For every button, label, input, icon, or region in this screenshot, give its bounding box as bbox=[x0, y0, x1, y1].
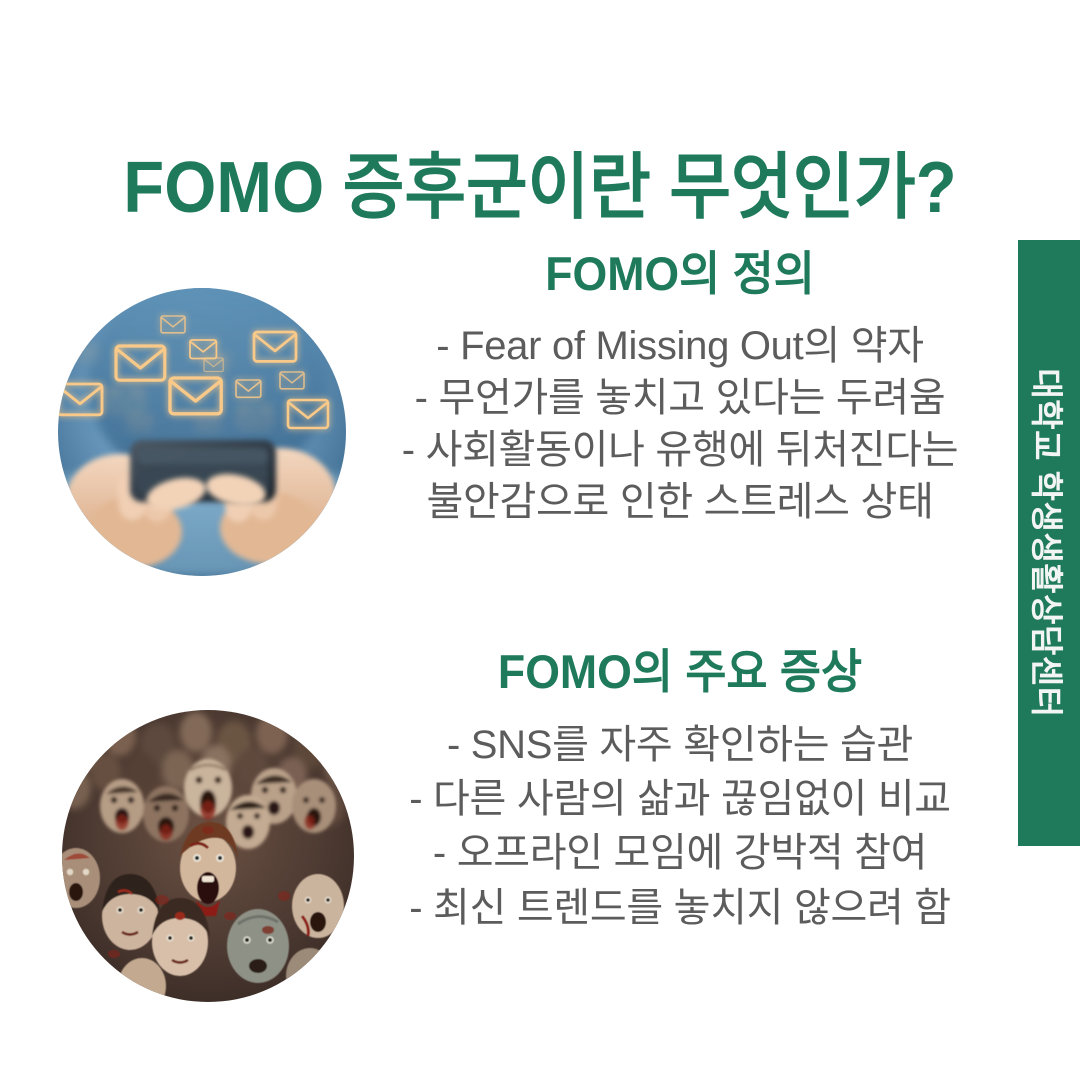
list-item: - 오프라인 모임에 강박적 참여 bbox=[370, 826, 990, 880]
section-definition: FOMO의 정의 - Fear of Missing Out의 약자 - 무언가… bbox=[0, 240, 1010, 600]
list-item: - 다른 사람의 삶과 끊임없이 비교 bbox=[370, 772, 990, 826]
list-item: - 사회활동이나 유행에 뒤처진다는 bbox=[370, 424, 990, 476]
symptom-list: - SNS를 자주 확인하는 습관 - 다른 사람의 삶과 끊임없이 비교 - … bbox=[370, 718, 990, 936]
infographic-card: FOMO 증후군이란 무엇인가? bbox=[0, 0, 1080, 1080]
sidebar-brand-bar: 대학교 학생생활상담센터 bbox=[1018, 240, 1080, 846]
list-item: - 무언가를 놓치고 있다는 두려움 bbox=[370, 372, 990, 424]
sidebar-brand-label: 대학교 학생생활상담센터 bbox=[1025, 368, 1073, 717]
section-heading-definition: FOMO의 정의 bbox=[386, 248, 975, 300]
section-heading-symptoms: FOMO의 주요 증상 bbox=[386, 646, 975, 698]
list-item: 불안감으로 인한 스트레스 상태 bbox=[370, 476, 990, 528]
page-title: FOMO 증후군이란 무엇인가? bbox=[38, 151, 1042, 227]
list-item: - SNS를 자주 확인하는 습관 bbox=[370, 718, 990, 772]
section-symptoms: FOMO의 주요 증상 - SNS를 자주 확인하는 습관 - 다른 사람의 삶… bbox=[0, 636, 1010, 996]
definition-list: - Fear of Missing Out의 약자 - 무언가를 놓치고 있다는… bbox=[370, 320, 990, 528]
zombie-crowd-image bbox=[62, 710, 354, 1002]
hand-holding-phone-with-email-icons-image bbox=[58, 288, 346, 576]
list-item: - Fear of Missing Out의 약자 bbox=[370, 320, 990, 372]
list-item: - 최신 트렌드를 놓치지 않으려 함 bbox=[370, 881, 990, 935]
symptoms-text-column: FOMO의 주요 증상 - SNS를 자주 확인하는 습관 - 다른 사람의 삶… bbox=[370, 646, 990, 935]
definition-text-column: FOMO의 정의 - Fear of Missing Out의 약자 - 무언가… bbox=[370, 248, 990, 528]
